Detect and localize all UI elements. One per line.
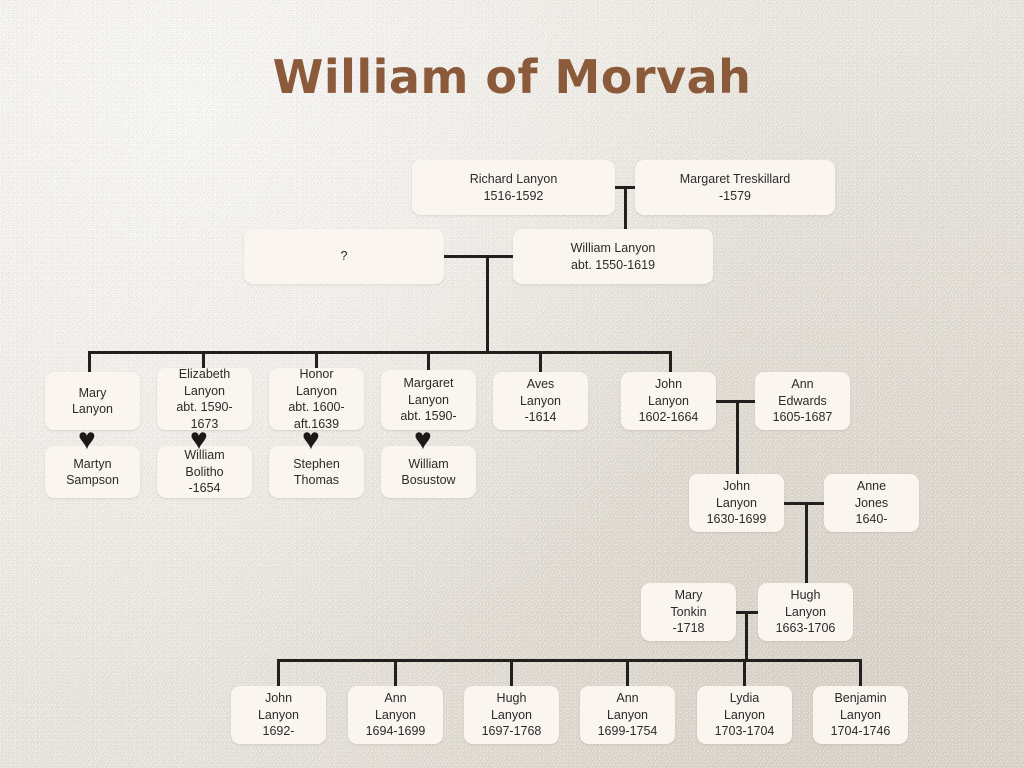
- person-margaret-lanyon[interactable]: Margaret Lanyon abt. 1590-: [381, 370, 476, 430]
- page-title: William of Morvah: [0, 50, 1024, 104]
- marriage-connector-john1630: [784, 502, 824, 505]
- person-unknown-spouse[interactable]: ?: [244, 229, 444, 284]
- sibling-stub-john1692: [277, 659, 280, 686]
- person-mary-tonkin[interactable]: Mary Tonkin -1718: [641, 583, 736, 641]
- person-hugh-lanyon-1697[interactable]: Hugh Lanyon 1697-1768: [464, 686, 559, 744]
- marriage-heart-icon: ♥: [414, 425, 432, 455]
- person-william-lanyon[interactable]: William Lanyon abt. 1550-1619: [513, 229, 713, 284]
- descent-line-john1602: [736, 400, 739, 474]
- person-margaret-treskillard[interactable]: Margaret Treskillard -1579: [635, 160, 835, 215]
- sibling-stub-aves: [539, 351, 542, 373]
- person-lydia-lanyon-1703[interactable]: Lydia Lanyon 1703-1704: [697, 686, 792, 744]
- sibling-stub-lydia1703: [743, 659, 746, 686]
- marriage-heart-icon: ♥: [78, 425, 96, 455]
- sibling-stub-hugh1697: [510, 659, 513, 686]
- person-honor-lanyon[interactable]: Honor Lanyon abt. 1600- aft.1639: [269, 368, 364, 430]
- descent-line-gen0: [624, 186, 627, 230]
- sibling-bus-gen5: [277, 659, 861, 662]
- sibling-stub-ann1699: [626, 659, 629, 686]
- person-richard-lanyon[interactable]: Richard Lanyon 1516-1592: [412, 160, 615, 215]
- sibling-stub-benjamin1704: [859, 659, 862, 686]
- person-ann-edwards[interactable]: Ann Edwards 1605-1687: [755, 372, 850, 430]
- person-john-lanyon-1630[interactable]: John Lanyon 1630-1699: [689, 474, 784, 532]
- sibling-stub-john1602: [669, 351, 672, 373]
- person-anne-jones[interactable]: Anne Jones 1640-: [824, 474, 919, 532]
- descent-line-hugh1663: [745, 611, 748, 660]
- marriage-heart-icon: ♥: [190, 425, 208, 455]
- person-ann-lanyon-1694[interactable]: Ann Lanyon 1694-1699: [348, 686, 443, 744]
- sibling-bus-gen2: [88, 351, 671, 354]
- person-elizabeth-lanyon[interactable]: Elizabeth Lanyon abt. 1590- 1673: [157, 368, 252, 430]
- marriage-connector-gen1: [444, 255, 513, 258]
- person-hugh-lanyon-1663[interactable]: Hugh Lanyon 1663-1706: [758, 583, 853, 641]
- marriage-heart-icon: ♥: [302, 425, 320, 455]
- descent-line-john1630: [805, 502, 808, 583]
- sibling-stub-mary: [88, 351, 91, 373]
- person-aves-lanyon[interactable]: Aves Lanyon -1614: [493, 372, 588, 430]
- descent-line-gen1: [486, 255, 489, 353]
- family-tree-canvas: William of Morvah Richard Lanyon 1516-15…: [0, 0, 1024, 768]
- person-john-lanyon-1602[interactable]: John Lanyon 1602-1664: [621, 372, 716, 430]
- person-mary-lanyon[interactable]: Mary Lanyon: [45, 372, 140, 430]
- person-john-lanyon-1692[interactable]: John Lanyon 1692-: [231, 686, 326, 744]
- sibling-stub-ann1694: [394, 659, 397, 686]
- person-ann-lanyon-1699[interactable]: Ann Lanyon 1699-1754: [580, 686, 675, 744]
- person-benjamin-lanyon-1704[interactable]: Benjamin Lanyon 1704-1746: [813, 686, 908, 744]
